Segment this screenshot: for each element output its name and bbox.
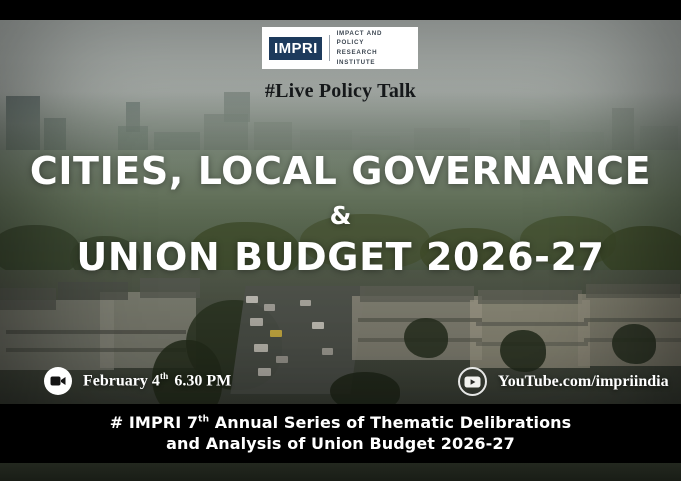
event-datetime-text: February 4th6.30 PM	[83, 372, 231, 390]
photo-vehicle	[312, 322, 324, 329]
event-info-row: February 4th6.30 PM YouTube.com/impriind…	[0, 367, 681, 401]
page-title-line-2: UNION BUDGET 2026-27	[0, 238, 681, 277]
banner-line-1-pre: # IMPRI 7	[110, 413, 198, 432]
photo-vehicle	[300, 300, 311, 306]
photo-building	[478, 290, 582, 304]
photo-building	[360, 286, 474, 302]
photo-vehicle	[264, 304, 275, 311]
video-camera-icon	[44, 367, 72, 395]
photo-building	[140, 278, 200, 298]
impri-logo-subtitle: IMPACT AND POLICY RESEARCH INSTITUTE	[337, 29, 411, 67]
photo-building	[476, 322, 588, 326]
youtube-channel-label[interactable]: YouTube.com/impriindia	[498, 373, 669, 391]
letterbox-bottom-edge	[0, 463, 681, 481]
title-ampersand: &	[0, 203, 681, 228]
photo-vehicle	[270, 330, 282, 337]
event-date-ordinal: th	[160, 372, 168, 382]
photo-building	[584, 318, 681, 322]
banner-line-1: # IMPRI 7th Annual Series of Thematic De…	[110, 414, 572, 433]
page-title-line-1: CITIES, LOCAL GOVERNANCE	[0, 152, 681, 191]
photo-vehicle	[250, 318, 263, 326]
photo-vehicle	[254, 344, 268, 352]
photo-tree	[404, 318, 448, 358]
photo-tree	[500, 330, 546, 372]
impri-logo-subtitle-line2: RESEARCH INSTITUTE	[337, 48, 411, 67]
photo-building	[0, 300, 114, 370]
poster-title: CITIES, LOCAL GOVERNANCE & UNION BUDGET …	[0, 152, 681, 277]
photo-building	[586, 284, 680, 298]
photo-building	[58, 282, 128, 300]
photo-vehicle	[322, 348, 333, 355]
event-poster: IMPRI IMPACT AND POLICY RESEARCH INSTITU…	[0, 0, 681, 481]
live-policy-talk-tagline: #Live Policy Talk	[0, 80, 681, 103]
impri-logo-subtitle-line1: IMPACT AND POLICY	[337, 29, 411, 48]
photo-building	[6, 330, 186, 334]
bottom-banner: # IMPRI 7th Annual Series of Thematic De…	[0, 404, 681, 463]
letterbox-top-bar	[0, 0, 681, 20]
banner-line-2: and Analysis of Union Budget 2026-27	[166, 435, 515, 454]
event-date-text: February 4	[83, 372, 160, 389]
photo-building	[6, 348, 186, 352]
impri-logo: IMPRI IMPACT AND POLICY RESEARCH INSTITU…	[262, 27, 418, 69]
photo-building	[0, 288, 56, 310]
banner-line-1-post: Annual Series of Thematic Delibrations	[209, 413, 571, 432]
youtube-icon[interactable]	[458, 367, 487, 396]
event-datetime-item: February 4th6.30 PM	[44, 367, 231, 395]
youtube-channel-item[interactable]: YouTube.com/impriindia	[458, 367, 669, 396]
photo-tree	[612, 324, 656, 364]
impri-logo-mark: IMPRI	[269, 37, 321, 60]
photo-vehicle	[276, 356, 288, 363]
banner-line-1-ordinal: th	[198, 414, 209, 424]
logo-divider	[329, 35, 330, 61]
photo-vehicle	[246, 296, 258, 303]
event-time-text: 6.30 PM	[174, 372, 231, 389]
